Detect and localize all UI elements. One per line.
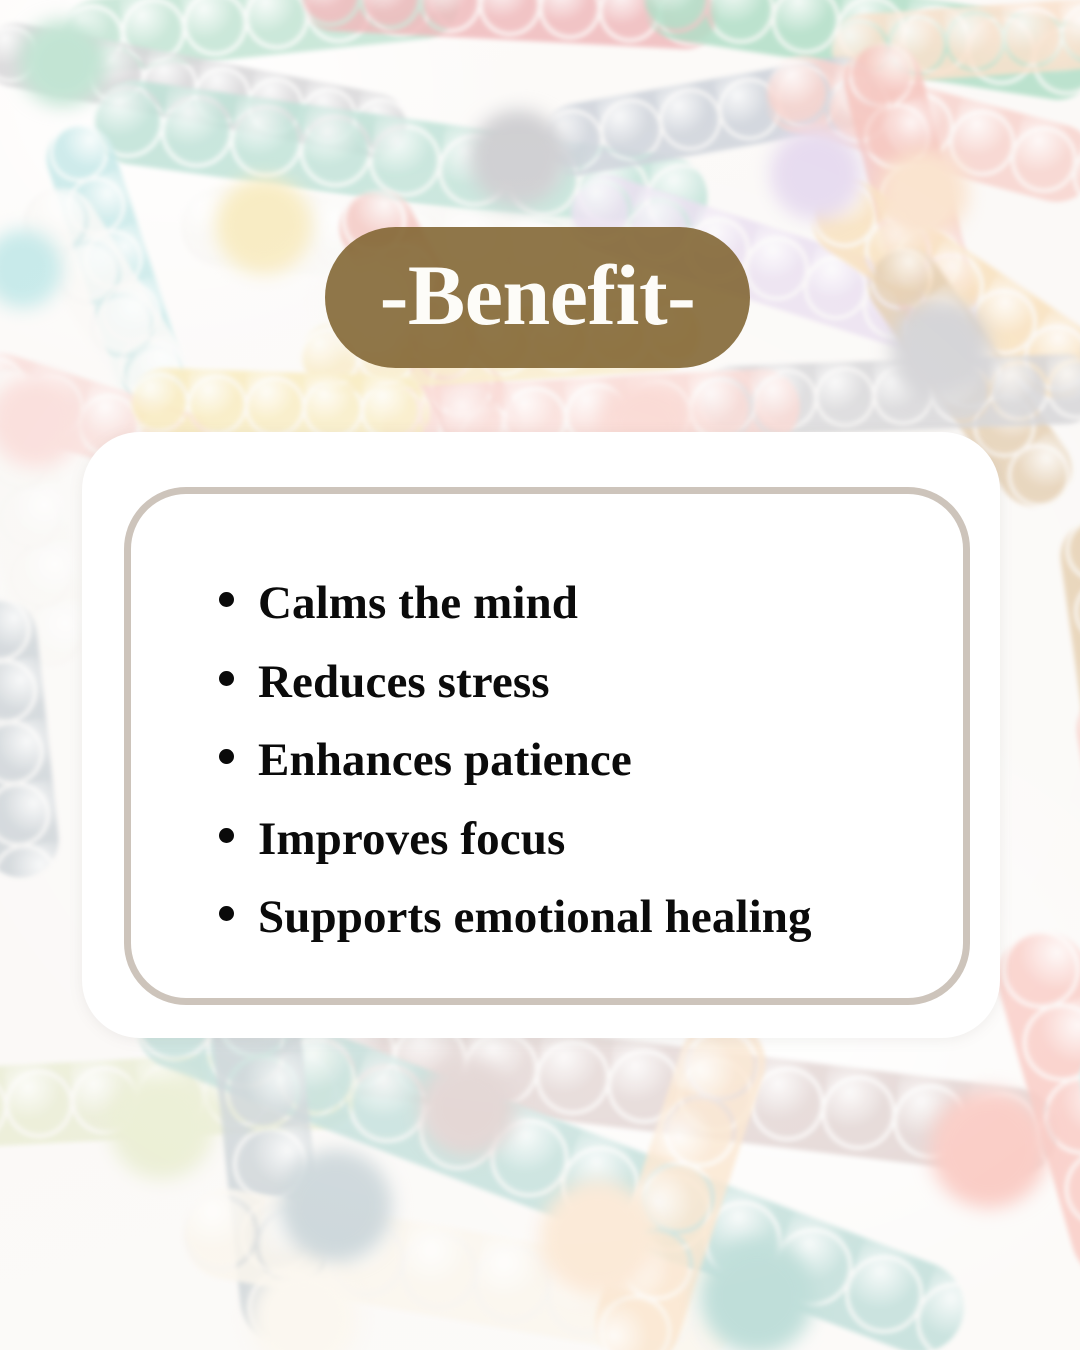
- benefit-item-label: Calms the mind: [258, 576, 578, 631]
- poster-canvas: -Benefit- Calms the mind Reduces stress …: [0, 0, 1080, 1350]
- list-item: Reduces stress: [219, 655, 903, 710]
- bead-blob-lav-1: [770, 128, 862, 220]
- bead-blob-amber-1: [216, 178, 312, 274]
- bead-blob-gray-1: [470, 110, 566, 206]
- bullet-dot-icon: [219, 828, 234, 843]
- list-item: Enhances patience: [219, 733, 903, 788]
- benefit-list: Calms the mind Reduces stress Enhances p…: [219, 576, 903, 969]
- bullet-dot-icon: [219, 592, 234, 607]
- bead-blob-gray-2: [890, 300, 990, 400]
- bead-blob-peach-2: [540, 1180, 656, 1296]
- bead-blob-coral-2: [930, 1090, 1048, 1208]
- benefit-item-label: Reduces stress: [258, 655, 550, 710]
- bead-blob-teal-2: [700, 1240, 814, 1350]
- bead-blob-peach-1: [880, 150, 968, 238]
- bead-blob-mauve-1: [420, 1060, 516, 1156]
- card-inner-border: Calms the mind Reduces stress Enhances p…: [124, 487, 970, 1005]
- bullet-dot-icon: [219, 749, 234, 764]
- bead-blob-green-1: [20, 20, 106, 106]
- bullet-dot-icon: [219, 906, 234, 921]
- bead-blob-slate-1: [280, 1150, 392, 1262]
- bead-blob-sage-1: [110, 1075, 214, 1179]
- benefit-title-text: -Benefit-: [380, 252, 695, 338]
- benefit-item-label: Improves focus: [258, 812, 565, 867]
- benefit-card: Calms the mind Reduces stress Enhances p…: [82, 432, 1000, 1038]
- bullet-dot-icon: [219, 671, 234, 686]
- list-item: Calms the mind: [219, 576, 903, 631]
- list-item: Supports emotional healing: [219, 890, 903, 945]
- benefit-item-label: Enhances patience: [258, 733, 632, 788]
- benefit-title-badge: -Benefit-: [325, 227, 750, 368]
- list-item: Improves focus: [219, 812, 903, 867]
- benefit-item-label: Supports emotional healing: [258, 890, 812, 945]
